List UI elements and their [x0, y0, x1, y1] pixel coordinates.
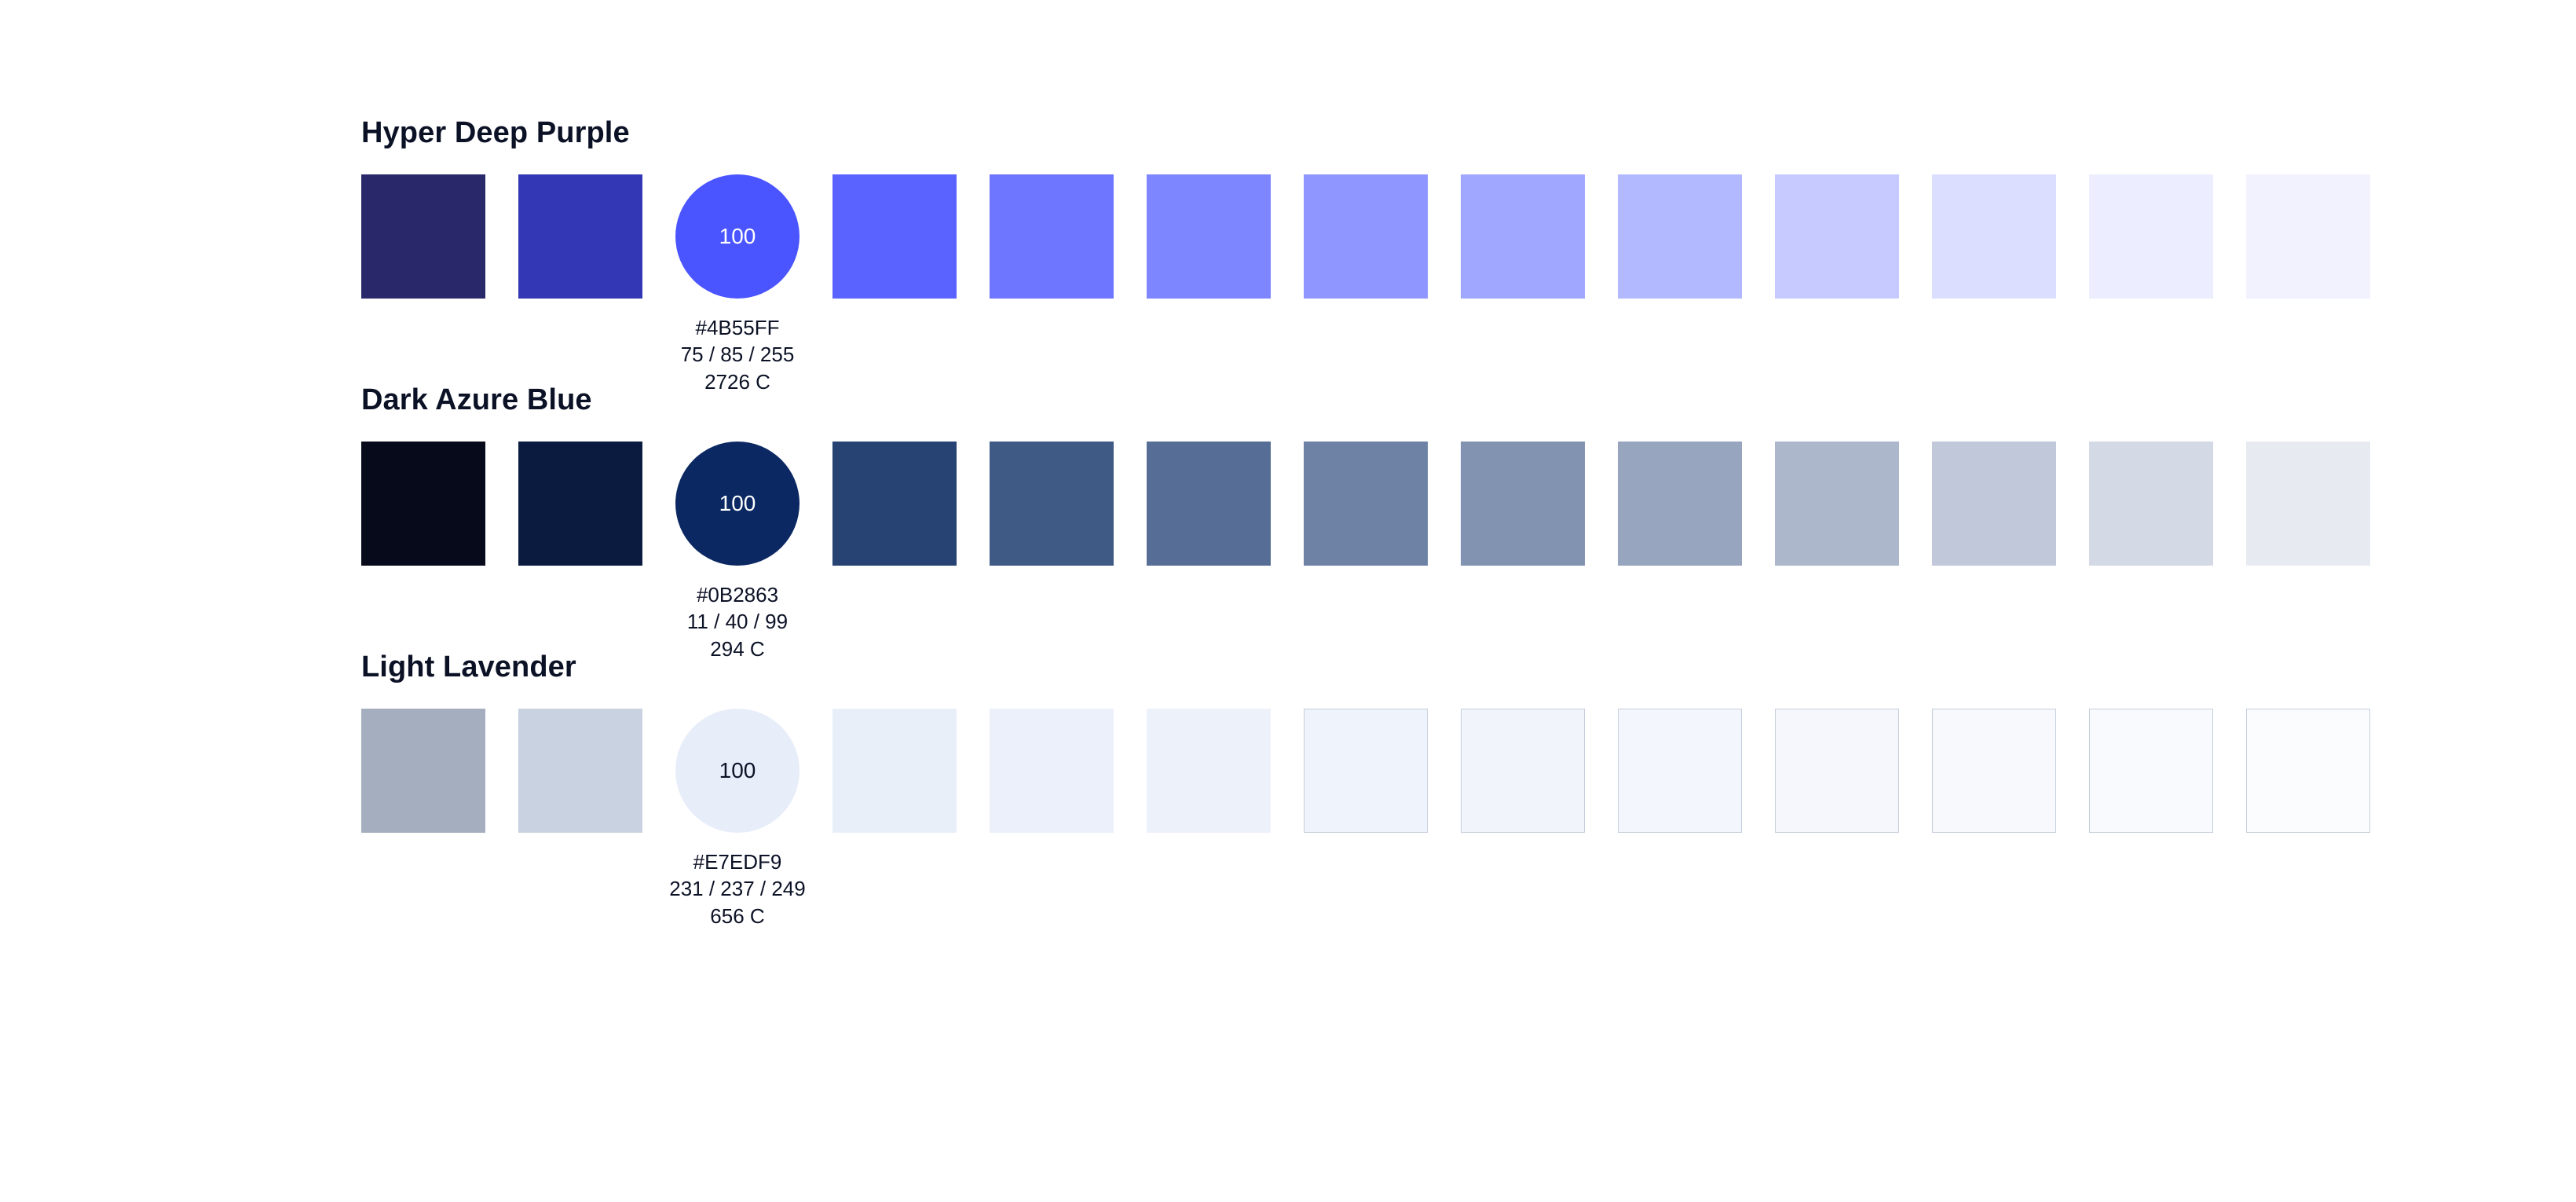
- swatch-cell[interactable]: [361, 709, 485, 833]
- swatch-cell[interactable]: [1618, 709, 1742, 833]
- color-chip[interactable]: [2246, 442, 2370, 566]
- palette-row: Light Lavender100#E7EDF9231 / 237 / 2496…: [361, 652, 2576, 833]
- primary-color-chip[interactable]: 100: [675, 174, 800, 299]
- color-chip[interactable]: [1461, 709, 1585, 833]
- swatch-cell[interactable]: [990, 442, 1114, 566]
- swatch-cell[interactable]: [1775, 442, 1899, 566]
- swatch-cell[interactable]: [1147, 442, 1271, 566]
- color-chip[interactable]: [1147, 174, 1271, 299]
- swatch-cell[interactable]: [1461, 709, 1585, 833]
- color-chip[interactable]: [518, 442, 642, 566]
- swatch-cell[interactable]: [1147, 709, 1271, 833]
- color-chip[interactable]: [1932, 709, 2056, 833]
- swatch-cell[interactable]: [1461, 442, 1585, 566]
- swatch-cell[interactable]: [2089, 174, 2213, 299]
- color-chip[interactable]: [1304, 174, 1428, 299]
- swatch-cell[interactable]: [1932, 709, 2056, 833]
- swatch-cell[interactable]: [361, 174, 485, 299]
- color-chip[interactable]: [1147, 709, 1271, 833]
- swatch-cell[interactable]: [1932, 174, 2056, 299]
- swatch-step-label: 100: [719, 760, 756, 782]
- swatch-hex-value: #0B2863: [605, 581, 870, 608]
- swatch-cell[interactable]: [832, 442, 957, 566]
- swatch-cell[interactable]: [1304, 174, 1428, 299]
- color-chip[interactable]: [1775, 174, 1899, 299]
- color-chip[interactable]: [361, 442, 485, 566]
- swatch-cell[interactable]: [2246, 709, 2370, 833]
- color-chip[interactable]: [2246, 174, 2370, 299]
- swatch-cell[interactable]: [990, 709, 1114, 833]
- color-chip[interactable]: [518, 709, 642, 833]
- swatch-cell[interactable]: [1304, 442, 1428, 566]
- swatch-strip: 100#0B286311 / 40 / 99294 C: [361, 442, 2576, 566]
- swatch-cell[interactable]: [1461, 174, 1585, 299]
- swatch-pantone-value: 656 C: [605, 903, 870, 929]
- swatch-step-label: 100: [719, 225, 756, 247]
- swatch-cell[interactable]: [1775, 174, 1899, 299]
- swatch-cell[interactable]: [2089, 442, 2213, 566]
- primary-color-chip[interactable]: 100: [675, 709, 800, 833]
- color-palette-page: Hyper Deep Purple100#4B55FF75 / 85 / 255…: [0, 0, 2576, 1202]
- swatch-cell[interactable]: [2089, 709, 2213, 833]
- swatch-cell[interactable]: [518, 709, 642, 833]
- swatch-cell[interactable]: [1775, 709, 1899, 833]
- swatch-rgb-value: 75 / 85 / 255: [605, 341, 870, 368]
- swatch-rgb-value: 231 / 237 / 249: [605, 875, 870, 902]
- swatch-cell[interactable]: [2246, 174, 2370, 299]
- color-chip[interactable]: [2089, 709, 2213, 833]
- color-chip[interactable]: [832, 174, 957, 299]
- swatch-hex-value: #4B55FF: [605, 314, 870, 341]
- color-chip[interactable]: [832, 442, 957, 566]
- swatch-rgb-value: 11 / 40 / 99: [605, 608, 870, 635]
- color-chip[interactable]: [518, 174, 642, 299]
- color-chip[interactable]: [1618, 442, 1742, 566]
- color-chip[interactable]: [1932, 174, 2056, 299]
- swatch-cell[interactable]: [832, 174, 957, 299]
- color-chip[interactable]: [2089, 174, 2213, 299]
- color-chip[interactable]: [1618, 709, 1742, 833]
- primary-swatch-cell[interactable]: 100#4B55FF75 / 85 / 2552726 C: [675, 174, 800, 299]
- swatch-cell[interactable]: [1618, 442, 1742, 566]
- palette-row: Dark Azure Blue100#0B286311 / 40 / 99294…: [361, 385, 2576, 566]
- primary-color-chip[interactable]: 100: [675, 442, 800, 566]
- swatch-meta: #E7EDF9231 / 237 / 249656 C: [605, 848, 870, 929]
- color-chip[interactable]: [990, 709, 1114, 833]
- color-chip[interactable]: [1775, 709, 1899, 833]
- color-chip[interactable]: [1147, 442, 1271, 566]
- color-chip[interactable]: [1461, 174, 1585, 299]
- palette-title: Hyper Deep Purple: [361, 118, 2576, 148]
- swatch-meta: #0B286311 / 40 / 99294 C: [605, 581, 870, 662]
- color-chip[interactable]: [1304, 709, 1428, 833]
- palette-title: Dark Azure Blue: [361, 385, 2576, 415]
- swatch-step-label: 100: [719, 493, 756, 515]
- swatch-cell[interactable]: [832, 709, 957, 833]
- swatch-cell[interactable]: [1618, 174, 1742, 299]
- color-chip[interactable]: [361, 174, 485, 299]
- color-chip[interactable]: [1932, 442, 2056, 566]
- swatch-strip: 100#E7EDF9231 / 237 / 249656 C: [361, 709, 2576, 833]
- swatch-strip: 100#4B55FF75 / 85 / 2552726 C: [361, 174, 2576, 299]
- palette-title: Light Lavender: [361, 652, 2576, 682]
- swatch-cell[interactable]: [1304, 709, 1428, 833]
- palette-row: Hyper Deep Purple100#4B55FF75 / 85 / 255…: [361, 118, 2576, 299]
- swatch-cell[interactable]: [2246, 442, 2370, 566]
- color-chip[interactable]: [2089, 442, 2213, 566]
- swatch-cell[interactable]: [990, 174, 1114, 299]
- color-chip[interactable]: [832, 709, 957, 833]
- swatch-cell[interactable]: [518, 442, 642, 566]
- color-chip[interactable]: [1618, 174, 1742, 299]
- primary-swatch-cell[interactable]: 100#E7EDF9231 / 237 / 249656 C: [675, 709, 800, 833]
- swatch-cell[interactable]: [1147, 174, 1271, 299]
- swatch-cell[interactable]: [1932, 442, 2056, 566]
- color-chip[interactable]: [1304, 442, 1428, 566]
- color-chip[interactable]: [1775, 442, 1899, 566]
- color-chip[interactable]: [2246, 709, 2370, 833]
- color-chip[interactable]: [1461, 442, 1585, 566]
- color-chip[interactable]: [990, 174, 1114, 299]
- swatch-meta: #4B55FF75 / 85 / 2552726 C: [605, 314, 870, 395]
- swatch-hex-value: #E7EDF9: [605, 848, 870, 875]
- swatch-cell[interactable]: [361, 442, 485, 566]
- color-chip[interactable]: [990, 442, 1114, 566]
- swatch-cell[interactable]: [518, 174, 642, 299]
- primary-swatch-cell[interactable]: 100#0B286311 / 40 / 99294 C: [675, 442, 800, 566]
- color-chip[interactable]: [361, 709, 485, 833]
